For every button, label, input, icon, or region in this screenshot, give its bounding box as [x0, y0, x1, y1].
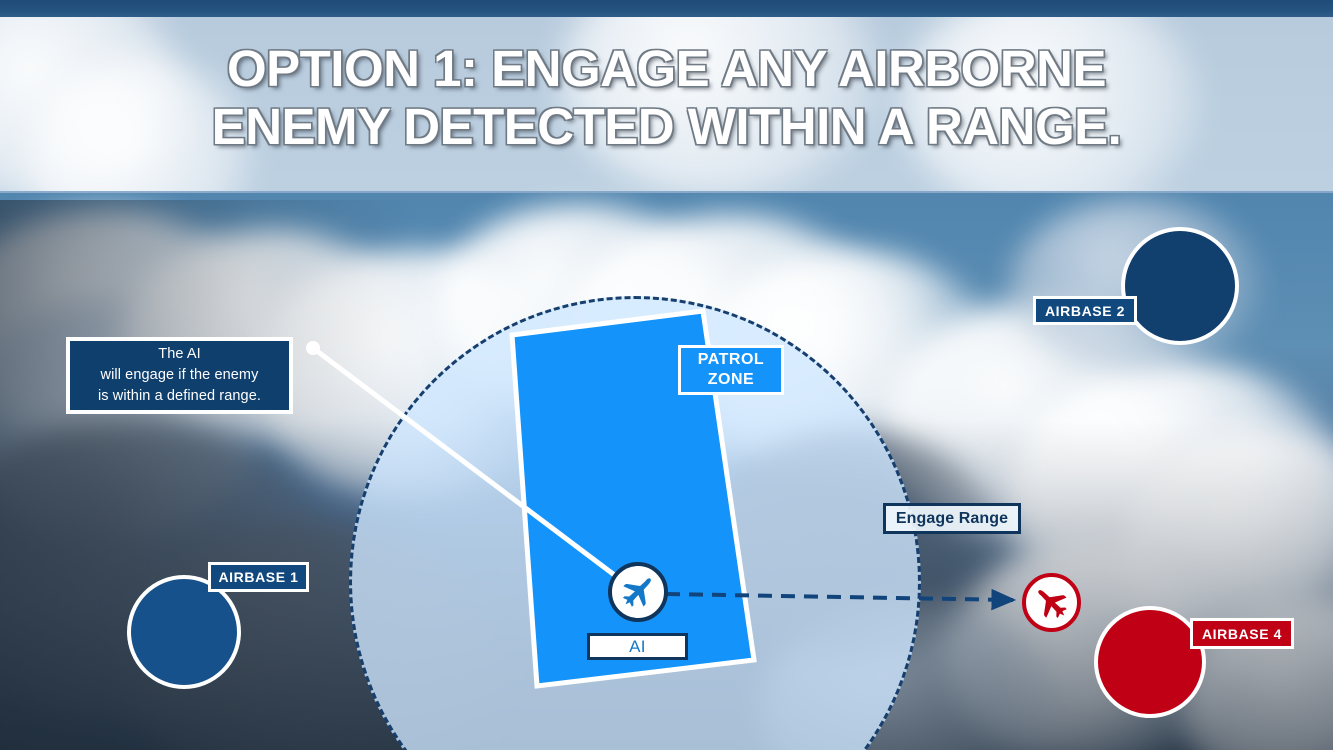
fighter-jet-icon — [1032, 583, 1072, 623]
ai-marker-label[interactable]: AI — [587, 633, 688, 660]
airbase-2-label[interactable]: AIRBASE 2 — [1033, 296, 1137, 325]
airbase-1-marker[interactable] — [127, 575, 241, 689]
title-divider — [0, 191, 1333, 193]
slide-canvas: OPTION 1: ENGAGE ANY AIRBORNE ENEMY DETE… — [0, 0, 1333, 750]
page-title: OPTION 1: ENGAGE ANY AIRBORNE ENEMY DETE… — [0, 40, 1333, 156]
airbase-1-label[interactable]: AIRBASE 1 — [208, 562, 309, 592]
ai-aircraft-marker[interactable] — [608, 562, 668, 622]
ai-behaviour-callout: The AI will engage if the enemy is withi… — [66, 337, 293, 414]
engage-range-label[interactable]: Engage Range — [883, 503, 1021, 534]
fighter-jet-icon — [618, 572, 658, 612]
patrol-zone-label[interactable]: PATROL ZONE — [678, 345, 784, 395]
enemy-aircraft-marker[interactable] — [1022, 573, 1081, 632]
airbase-4-label[interactable]: AIRBASE 4 — [1190, 618, 1294, 649]
airbase-2-marker[interactable] — [1121, 227, 1239, 345]
top-accent-bar — [0, 0, 1333, 17]
